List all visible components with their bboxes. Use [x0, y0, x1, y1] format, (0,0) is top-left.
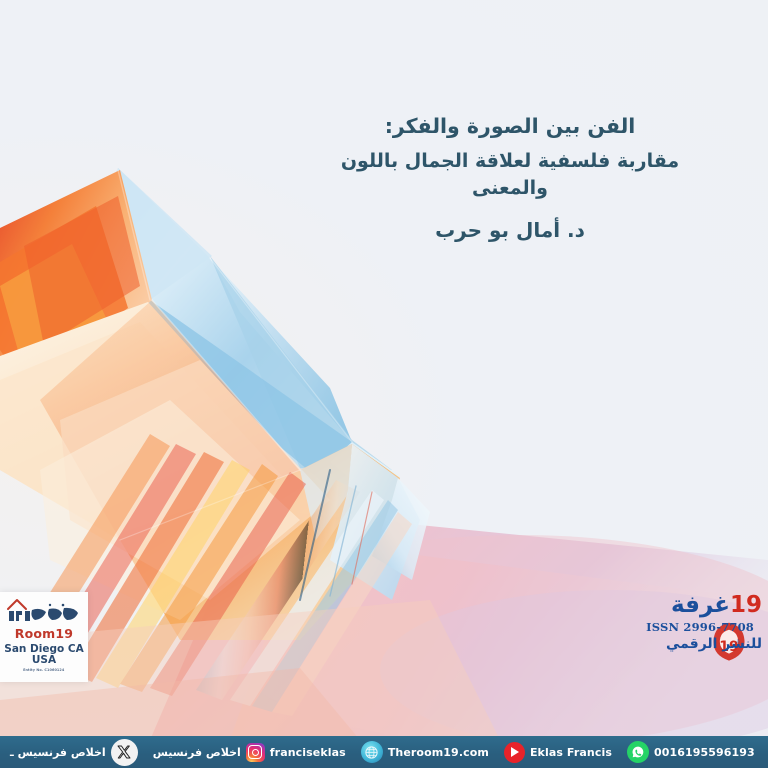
instagram-arabic-label: اخلاص فرنسيس	[153, 746, 241, 759]
publisher-logo: 19 19غرفة ISSN 2996-7708 للنشر الرقمي	[628, 592, 768, 664]
title-line-primary: الفن بين الصورة والفكر:	[300, 112, 720, 141]
social-item-whatsapp[interactable]: 0016195596193	[622, 736, 765, 768]
social-media-bar: اخلاص فرنسيس ـ اخلاص فرنسيس franciseklas	[0, 736, 768, 768]
title-line-subtitle: مقاربة فلسفية لعلاقة الجمال باللون والمع…	[300, 148, 720, 202]
poster-canvas: الفن بين الصورة والفكر: مقاربة فلسفية لع…	[0, 0, 768, 768]
whatsapp-icon[interactable]	[627, 741, 649, 763]
x-handle-label: اخلاص فرنسيس ـ	[10, 746, 106, 759]
room19-name: Room19	[15, 628, 73, 641]
youtube-channel-label: Eklas Francis	[530, 746, 612, 759]
publisher-number: 19	[730, 592, 762, 618]
title-block: الفن بين الصورة والفكر: مقاربة فلسفية لع…	[300, 112, 720, 244]
room19-entity-number: Entity No. C1060124	[23, 668, 64, 672]
author-name: د. أمال بو حرب	[300, 216, 720, 244]
social-item-youtube[interactable]: Eklas Francis	[499, 736, 622, 768]
publisher-arabic-name: 19غرفة	[671, 594, 766, 617]
whatsapp-number-label: 0016195596193	[654, 746, 755, 759]
youtube-icon[interactable]	[504, 742, 525, 763]
room19-logo-card: Room19 San Diego CA USA Entity No. C1060…	[0, 592, 88, 682]
room19-country: USA	[32, 655, 56, 667]
instagram-handle-label: franciseklas	[270, 746, 346, 759]
social-item-website[interactable]: Theroom19.com	[356, 736, 499, 768]
x-twitter-icon[interactable]	[111, 739, 138, 766]
social-item-x[interactable]: اخلاص فرنسيس ـ	[0, 736, 143, 768]
instagram-icon[interactable]	[246, 743, 265, 762]
publisher-tagline: للنشر الرقمي	[666, 636, 762, 652]
globe-icon[interactable]	[361, 741, 383, 763]
room19-city: San Diego CA	[4, 643, 83, 655]
website-label: Theroom19.com	[388, 746, 489, 759]
publisher-issn: ISSN 2996-7708	[646, 620, 754, 634]
social-item-instagram[interactable]: اخلاص فرنسيس franciseklas	[143, 736, 356, 768]
publisher-name-text: غرفة	[671, 592, 730, 618]
room19-arabic-mark	[4, 596, 84, 626]
